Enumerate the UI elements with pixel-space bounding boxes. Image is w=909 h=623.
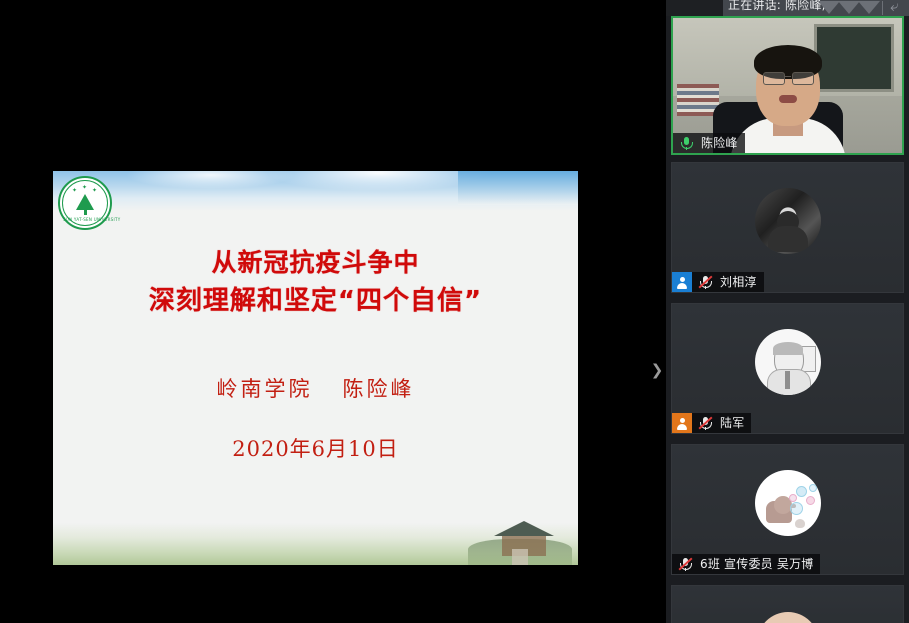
chevron-right-icon[interactable]: ❯ [648, 356, 666, 384]
toolbar-divider [882, 1, 883, 15]
microphone-muted-icon [675, 554, 695, 574]
participant-tile[interactable]: 刘相淳 [671, 162, 904, 293]
participant-tile[interactable]: 陆军 [671, 303, 904, 434]
shared-screen-stage[interactable]: ✦ ✦ ✦ SUN YAT-SEN UNIVERSITY 从新冠抗疫斗争中 深刻… [0, 0, 666, 623]
participant-tile-active-speaker[interactable]: 陈险峰 [671, 16, 904, 155]
speaking-status-label: 正在讲话: 陈险峰; [728, 0, 826, 13]
slide-text-block: 从新冠抗疫斗争中 深刻理解和坚定“四个自信” 岭南学院陈险峰 2020年6月10… [53, 171, 578, 565]
slide-pavilion-image [468, 511, 572, 565]
microphone-muted-icon [695, 272, 715, 292]
participant-filmstrip[interactable]: 正在讲话: 陈险峰; ⤷ 陈险峰 [666, 0, 909, 623]
participant-name: 6班 宣传委员 吴万博 [700, 554, 813, 574]
presenter-org: 岭南学院 [217, 377, 313, 401]
chevron-up-icon-1[interactable] [818, 1, 840, 14]
participant-name-strip: 陆军 [672, 413, 751, 433]
participant-name: 刘相淳 [720, 272, 757, 292]
participant-name-strip: 陈险峰 [673, 133, 745, 153]
participant-name: 陈险峰 [701, 133, 738, 153]
participant-name-strip: 6班 宣传委员 吴万博 [672, 554, 820, 574]
avatar [755, 188, 821, 254]
slide-title-line-2: 深刻理解和坚定“四个自信” [149, 282, 482, 321]
chevron-up-icon-2[interactable] [838, 1, 860, 14]
participant-name-strip: 刘相淳 [672, 272, 764, 292]
speaking-status-bar: 正在讲话: 陈险峰; ⤷ [666, 0, 909, 16]
microphone-on-icon [676, 133, 696, 153]
avatar [755, 329, 821, 395]
reply-arrow-icon[interactable]: ⤷ [890, 0, 898, 14]
participant-name: 陆军 [720, 413, 744, 433]
presentation-slide: ✦ ✦ ✦ SUN YAT-SEN UNIVERSITY 从新冠抗疫斗争中 深刻… [53, 171, 578, 565]
slide-presenter: 岭南学院陈险峰 [217, 373, 415, 403]
orange-user-icon [672, 413, 692, 433]
microphone-muted-icon [695, 413, 715, 433]
participant-tile[interactable]: 6班 宣传委员 吴万博 [671, 444, 904, 575]
avatar [755, 470, 821, 536]
slide-date: 2020年6月10日 [232, 433, 399, 463]
presenter-name: 陈险峰 [343, 377, 415, 401]
participant-tile-partial[interactable] [671, 585, 904, 623]
blue-user-icon [672, 272, 692, 292]
chevron-up-icon-3[interactable] [858, 1, 880, 14]
slide-title-line-1: 从新冠抗疫斗争中 [211, 243, 419, 282]
